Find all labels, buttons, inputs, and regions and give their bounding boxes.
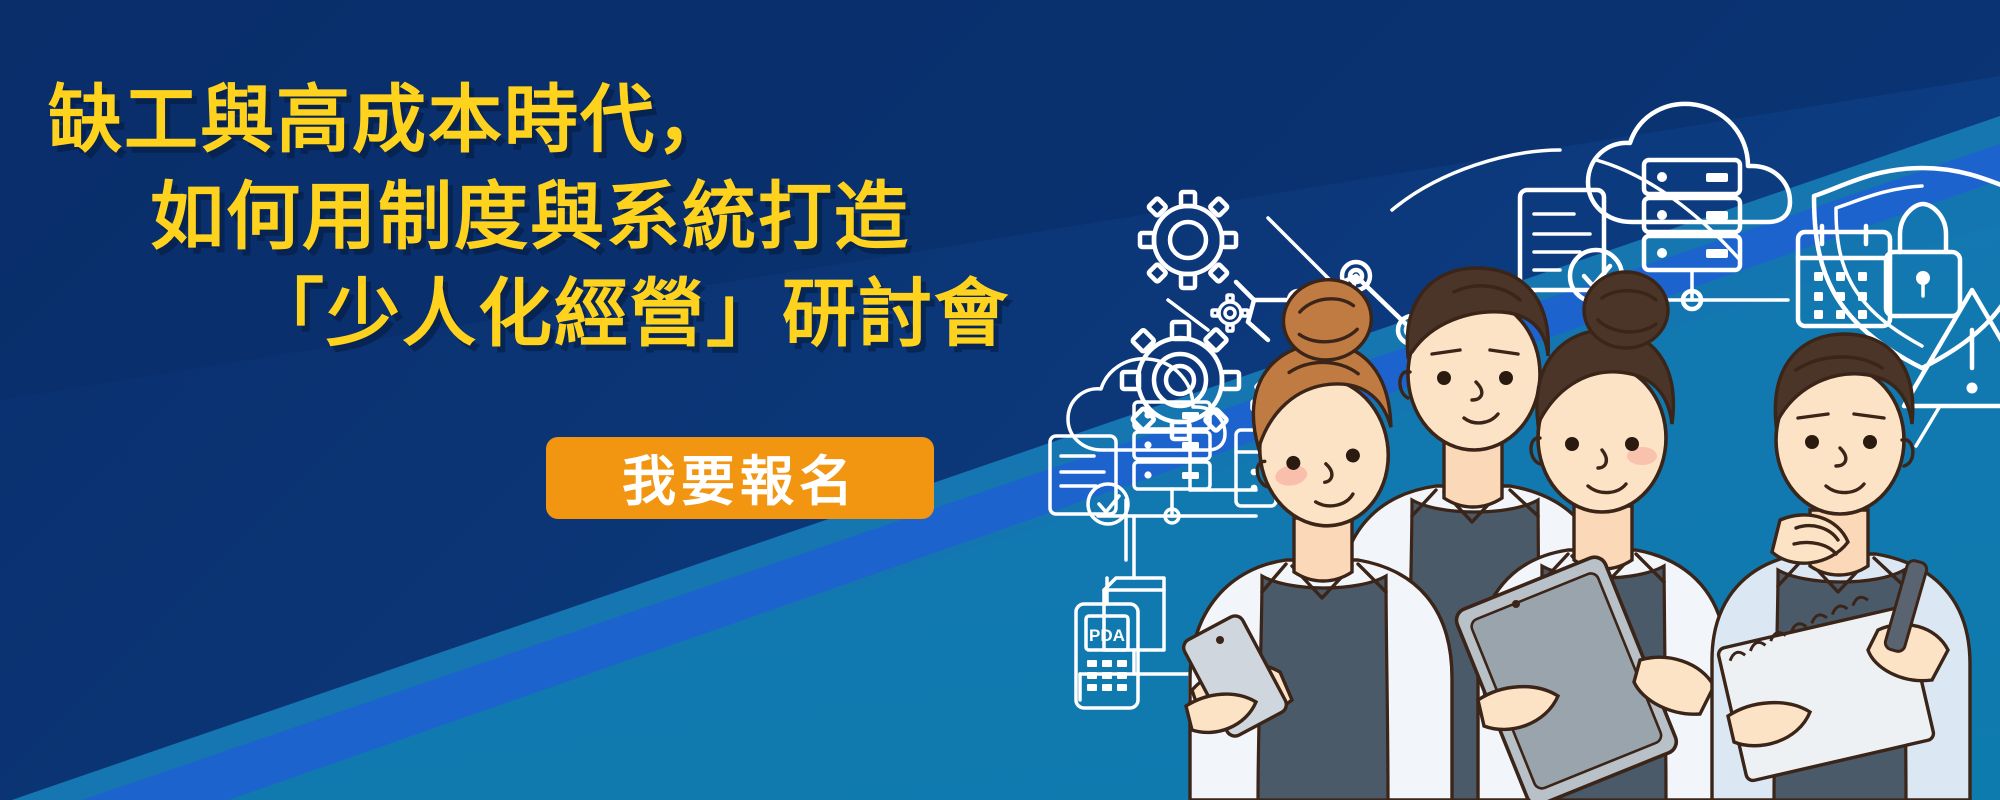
- server-rack-secondary-icon: [1134, 402, 1210, 489]
- cta-container: 我要報名: [546, 437, 934, 519]
- svg-text:PDA: PDA: [1089, 626, 1125, 645]
- headline-line-3: 「少人化經營」研討會: [0, 266, 1030, 363]
- register-button[interactable]: 我要報名: [546, 437, 934, 519]
- headline-block: 缺工與高成本時代， 如何用制度與系統打造 「少人化經營」研討會: [0, 72, 1030, 363]
- gear-tiny-icon: [1212, 295, 1248, 331]
- cloud-server-secondary-icon: [1068, 359, 1256, 523]
- warning-triangle-icon: [1904, 290, 2000, 406]
- staff-technology-illustration: .ln{fill:none;stroke:#ffffff;stroke-widt…: [1040, 0, 2000, 800]
- headline-line-1: 缺工與高成本時代，: [0, 72, 1030, 169]
- seminar-promo-banner: .ln{fill:none;stroke:#ffffff;stroke-widt…: [0, 0, 2000, 800]
- gear-large-icon: [1140, 192, 1236, 288]
- pda-scanner-icon: PDA: [1076, 578, 1138, 708]
- headline-line-2: 如何用制度與系統打造: [0, 169, 1030, 266]
